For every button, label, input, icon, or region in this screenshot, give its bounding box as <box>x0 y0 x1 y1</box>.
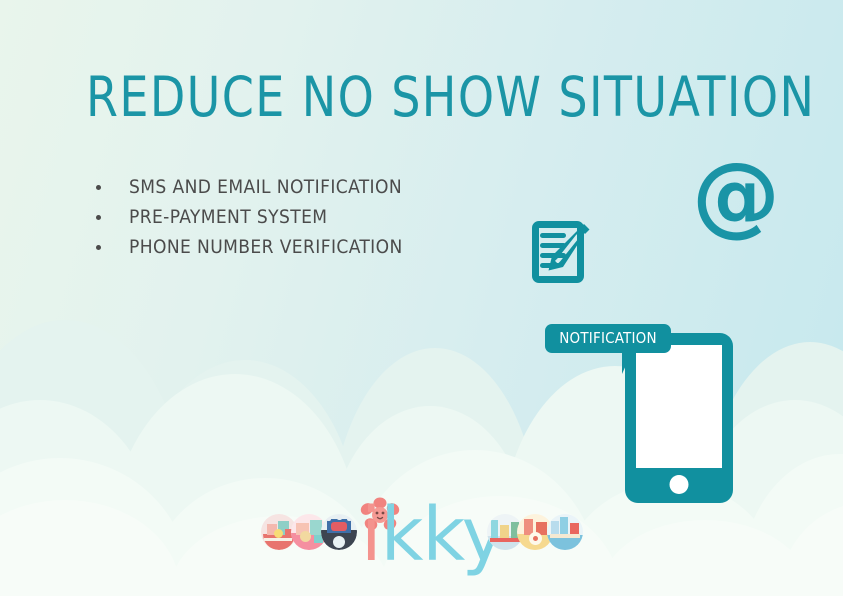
brand-logo: ikky <box>261 500 581 562</box>
logo-wordmark: ikky <box>361 498 504 572</box>
notification-label: NOTIFICATION <box>545 324 671 353</box>
at-sign-icon: @ <box>692 150 776 240</box>
phone-screen <box>636 345 722 468</box>
logo-badge-right-3 <box>547 514 583 550</box>
list-item: SMS AND EMAIL NOTIFICATION <box>92 172 403 202</box>
notification-bubble-icon: NOTIFICATION <box>545 324 671 353</box>
mobile-phone-icon <box>625 333 733 503</box>
document-pencil-icon <box>527 219 595 289</box>
logo-letter-i: i <box>361 492 381 578</box>
feature-bullet-list: SMS AND EMAIL NOTIFICATION PRE-PAYMENT S… <box>92 172 403 262</box>
page-title: REDUCE NO SHOW SITUATION <box>86 68 815 126</box>
bubble-tail <box>622 352 640 374</box>
phone-home-button <box>670 475 689 494</box>
list-item: PRE-PAYMENT SYSTEM <box>92 202 403 232</box>
slide-canvas: REDUCE NO SHOW SITUATION SMS AND EMAIL N… <box>0 0 843 596</box>
logo-letters-kky: kky <box>381 492 505 578</box>
list-item: PHONE NUMBER VERIFICATION <box>92 232 403 262</box>
logo-badge-left-3 <box>321 514 357 550</box>
